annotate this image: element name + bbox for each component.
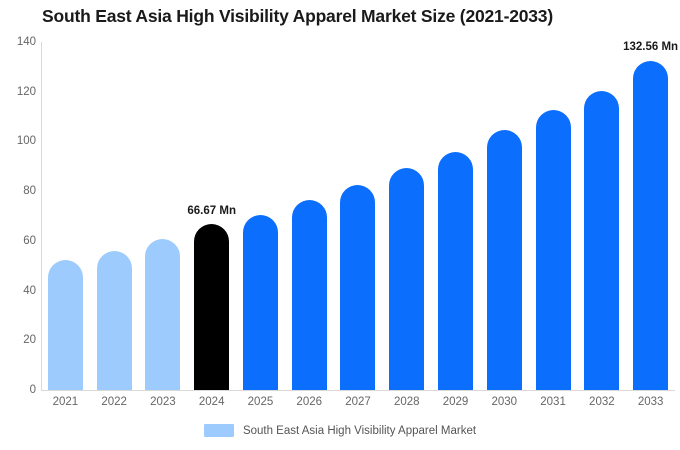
bar-2030[interactable] (487, 130, 522, 390)
bar-2022[interactable] (97, 251, 132, 390)
bar-2031[interactable] (536, 110, 571, 390)
bar-2028[interactable] (389, 168, 424, 390)
bar-2021[interactable] (48, 260, 83, 391)
bar-2024[interactable] (194, 224, 229, 390)
bar-chart: South East Asia High Visibility Apparel … (0, 0, 680, 450)
chart-legend: South East Asia High Visibility Apparel … (0, 424, 680, 437)
bar-2027[interactable] (340, 185, 375, 390)
bar-value-label-2024: 66.67 Mn (164, 205, 260, 217)
bars-layer: 202120222023202466.67 Mn2025202620272028… (0, 0, 680, 450)
legend-swatch (204, 424, 234, 437)
bar-2025[interactable] (243, 215, 278, 390)
legend-label: South East Asia High Visibility Apparel … (243, 425, 476, 437)
x-axis-tick-label: 2033 (621, 396, 680, 408)
bar-2023[interactable] (145, 239, 180, 390)
bar-2026[interactable] (292, 200, 327, 390)
bar-value-label-2033: 132.56 Mn (603, 41, 680, 53)
bar-2029[interactable] (438, 152, 473, 390)
bar-2032[interactable] (584, 91, 619, 390)
bar-2033[interactable] (633, 61, 668, 391)
